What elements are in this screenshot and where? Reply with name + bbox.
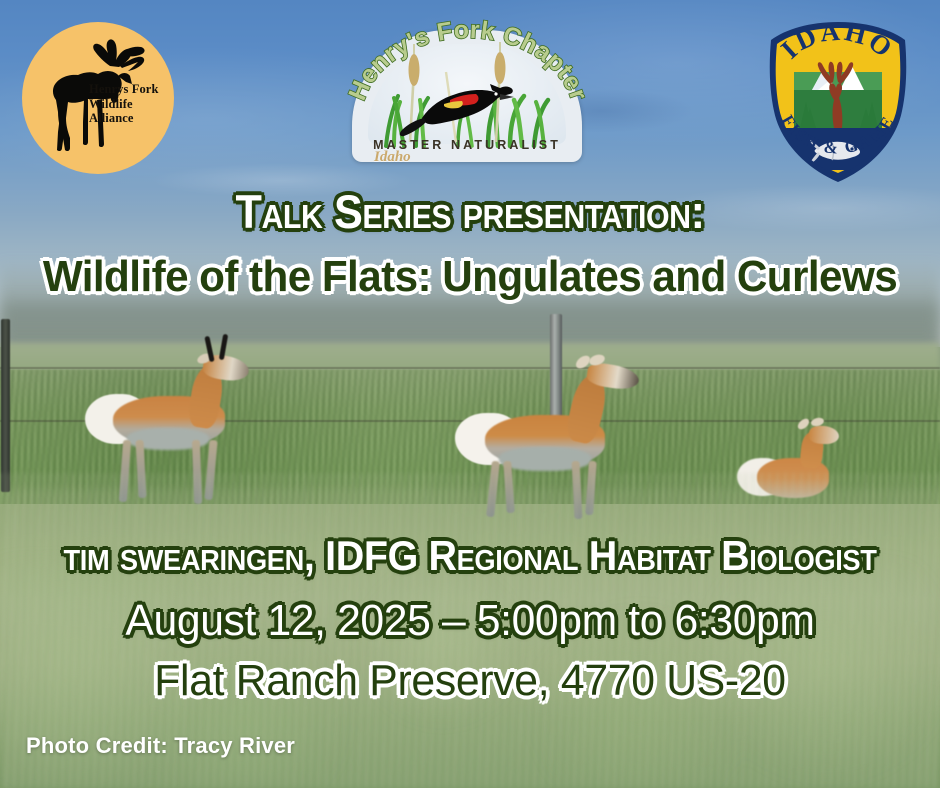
pronghorn-leg (571, 461, 582, 519)
henrys-fork-chapter-master-naturalist-logo: Henry's Fork Chapter MASTER NATURALIST I… (338, 14, 596, 174)
logo-line-3: Alliance (89, 111, 165, 126)
idfg-shield-icon: IDAHO FISH & GAME (760, 16, 916, 186)
pronghorn-leg (486, 461, 500, 518)
pronghorn-leg (585, 461, 597, 515)
page-subtitle: Wildlife of the Flats: Ungulates and Cur… (19, 252, 921, 302)
logo-state-label: Idaho (374, 149, 411, 166)
logo-line-2: Wildlife (89, 97, 165, 112)
fence-post-left (1, 319, 10, 492)
pronghorn-head (808, 425, 839, 445)
logo-line-1: Henrys Fork (89, 82, 165, 97)
event-flyer-poster: Henrys Fork Wildlife Alliance (0, 0, 940, 788)
logo-wordmark: Henrys Fork Wildlife Alliance (89, 82, 165, 126)
henrys-fork-wildlife-alliance-logo: Henrys Fork Wildlife Alliance (22, 22, 174, 174)
pronghorn-leg (119, 440, 131, 502)
pronghorn-leg (204, 440, 217, 500)
pronghorn-bedded-right (735, 418, 845, 513)
event-venue: Flat Ranch Preserve, 4770 US-20 (14, 656, 926, 706)
pronghorn-leg (192, 440, 202, 504)
speaker-name-and-title: tim swearingen, IDFG Regional Habitat Bi… (28, 532, 912, 580)
event-datetime: August 12, 2025 – 5:00pm to 6:30pm (14, 596, 926, 646)
pronghorn-standing-left (85, 348, 245, 498)
photo-credit: Photo Credit: Tracy River (26, 733, 295, 759)
idaho-fish-and-game-logo: IDAHO FISH & GAME (760, 16, 916, 186)
page-title: Talk Series presentation: (38, 184, 903, 239)
pronghorn-standing-center (455, 355, 645, 515)
